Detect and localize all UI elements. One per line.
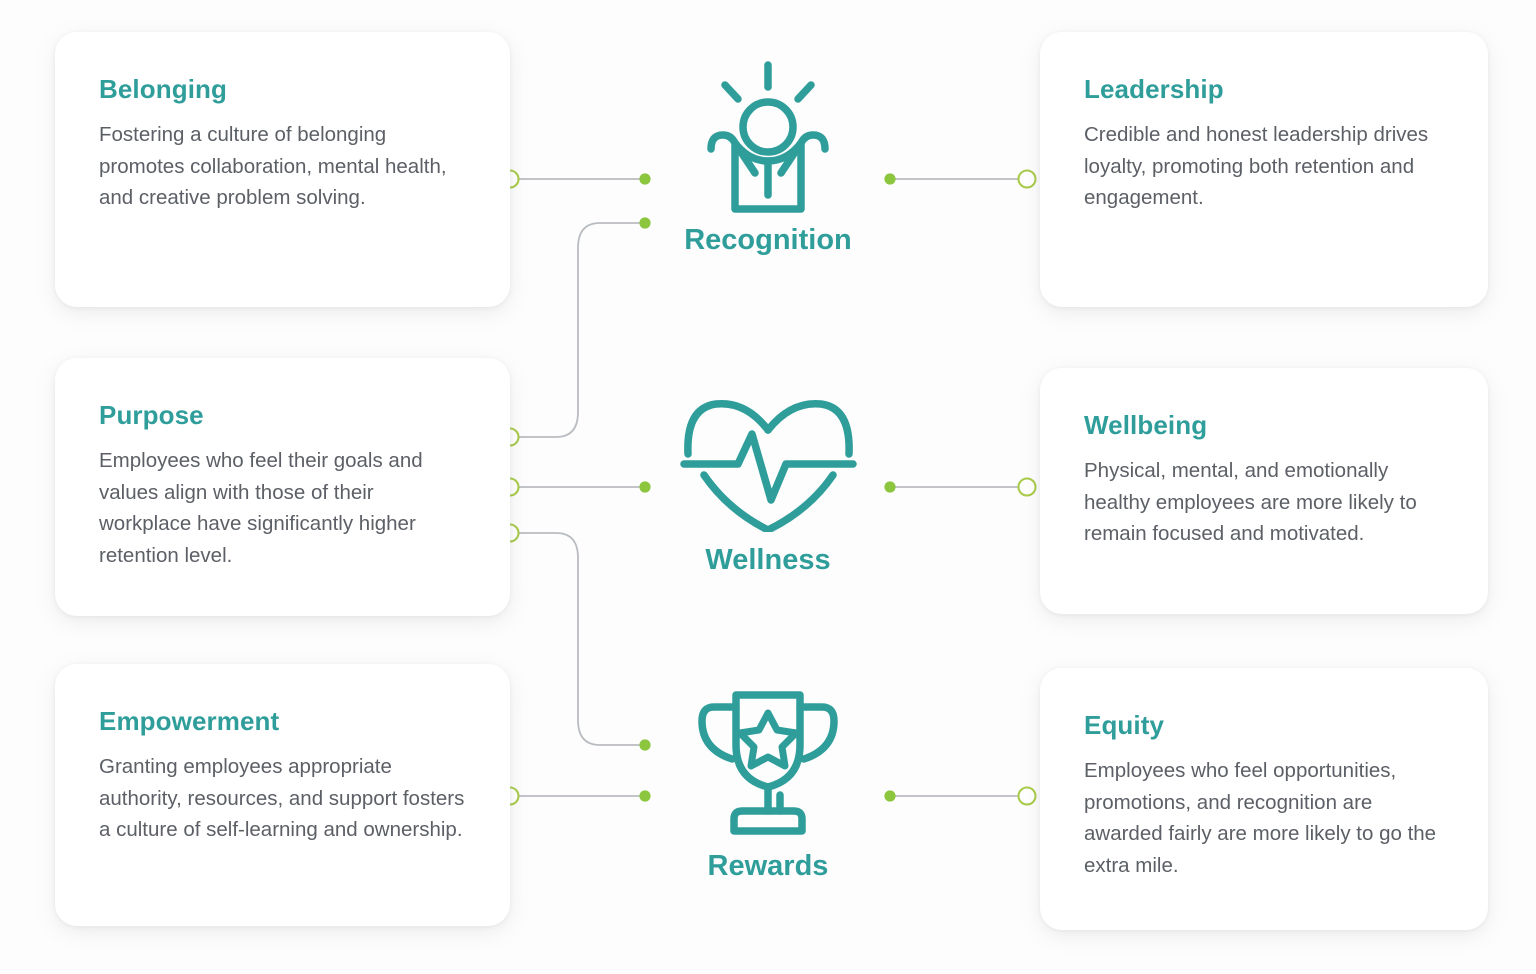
person-celebrating-icon xyxy=(638,52,898,222)
card-purpose[interactable]: Purpose Employees who feel their goals a… xyxy=(55,358,510,616)
pillar-rewards[interactable]: Rewards xyxy=(638,678,898,883)
card-wellbeing-title: Wellbeing xyxy=(1084,410,1448,441)
pillar-wellness-label: Wellness xyxy=(638,544,898,577)
card-equity-title: Equity xyxy=(1084,710,1448,741)
connector-line-purpose-rewards xyxy=(519,533,641,745)
card-empowerment-content: Empowerment Granting employees appropria… xyxy=(55,664,510,876)
card-wellbeing-body: Physical, mental, and emotionally health… xyxy=(1084,455,1448,550)
card-empowerment[interactable]: Empowerment Granting employees appropria… xyxy=(55,664,510,926)
heart-pulse-icon xyxy=(638,372,898,542)
card-wellbeing-content: Wellbeing Physical, mental, and emotiona… xyxy=(1040,368,1488,580)
pillar-recognition[interactable]: Recognition xyxy=(638,52,898,257)
card-equity[interactable]: Equity Employees who feel opportunities,… xyxy=(1040,668,1488,930)
card-belonging[interactable]: Belonging Fostering a culture of belongi… xyxy=(55,32,510,307)
card-equity-body: Employees who feel opportunities, promot… xyxy=(1084,755,1448,881)
card-purpose-body: Employees who feel their goals and value… xyxy=(99,445,470,571)
card-leadership-content: Leadership Credible and honest leadershi… xyxy=(1040,32,1488,244)
card-belonging-content: Belonging Fostering a culture of belongi… xyxy=(55,32,510,244)
card-empowerment-body: Granting employees appropriate authority… xyxy=(99,751,470,846)
card-leadership[interactable]: Leadership Credible and honest leadershi… xyxy=(1040,32,1488,307)
pillar-recognition-label: Recognition xyxy=(638,224,898,257)
trophy-star-icon xyxy=(638,678,898,848)
connector-ring-leadership xyxy=(1019,171,1036,188)
connector-ring-wellbeing xyxy=(1019,479,1036,496)
pillar-rewards-label: Rewards xyxy=(638,850,898,883)
card-purpose-content: Purpose Employees who feel their goals a… xyxy=(55,358,510,601)
pillar-wellness[interactable]: Wellness xyxy=(638,372,898,577)
connector-line-purpose-recognition xyxy=(519,223,641,437)
card-purpose-title: Purpose xyxy=(99,400,470,431)
card-leadership-title: Leadership xyxy=(1084,74,1448,105)
card-leadership-body: Credible and honest leadership drives lo… xyxy=(1084,119,1448,214)
card-belonging-title: Belonging xyxy=(99,74,470,105)
infographic-canvas: Belonging Fostering a culture of belongi… xyxy=(0,0,1536,974)
connector-ring-equity xyxy=(1019,788,1036,805)
card-empowerment-title: Empowerment xyxy=(99,706,470,737)
card-equity-content: Equity Employees who feel opportunities,… xyxy=(1040,668,1488,911)
card-belonging-body: Fostering a culture of belonging promote… xyxy=(99,119,470,214)
card-wellbeing[interactable]: Wellbeing Physical, mental, and emotiona… xyxy=(1040,368,1488,614)
